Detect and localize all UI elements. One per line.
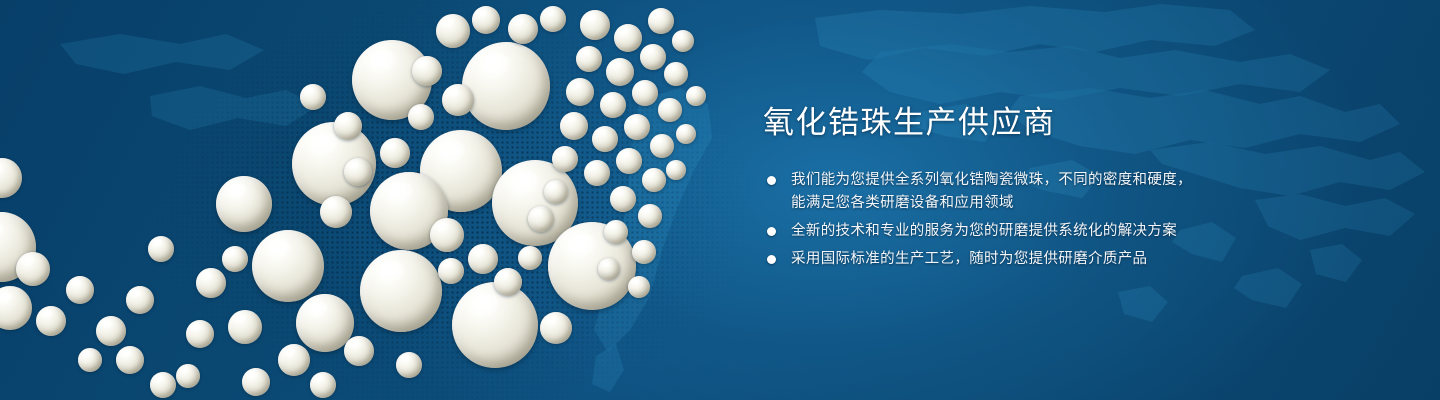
bullet-text-line1: 全新的技术和专业的服务为您的研磨提供系统化的解决方案 bbox=[791, 223, 1177, 239]
list-item: 我们能为您提供全系列氧化锆陶瓷微珠，不同的密度和硬度， 能满足您各类研磨设备和应… bbox=[763, 169, 1233, 215]
banner-bullet-list: 我们能为您提供全系列氧化锆陶瓷微珠，不同的密度和硬度， 能满足您各类研磨设备和应… bbox=[763, 169, 1233, 271]
bullet-text-line2: 能满足您各类研磨设备和应用领域 bbox=[791, 192, 1233, 215]
zirconia-beads-image bbox=[0, 0, 780, 400]
halftone-dot-texture bbox=[110, 0, 770, 400]
list-item: 全新的技术和专业的服务为您的研磨提供系统化的解决方案 bbox=[763, 220, 1233, 243]
bullet-dot-icon bbox=[767, 176, 776, 185]
hero-banner: 氧化锆珠生产供应商 我们能为您提供全系列氧化锆陶瓷微珠，不同的密度和硬度， 能满… bbox=[0, 0, 1440, 400]
banner-copy: 氧化锆珠生产供应商 我们能为您提供全系列氧化锆陶瓷微珠，不同的密度和硬度， 能满… bbox=[763, 104, 1233, 276]
list-item: 采用国际标准的生产工艺，随时为您提供研磨介质产品 bbox=[763, 248, 1233, 271]
banner-headline: 氧化锆珠生产供应商 bbox=[763, 104, 1233, 143]
bullet-text-line1: 我们能为您提供全系列氧化锆陶瓷微珠，不同的密度和硬度， bbox=[791, 172, 1192, 188]
bullet-dot-icon bbox=[767, 227, 776, 236]
bullet-text-line1: 采用国际标准的生产工艺，随时为您提供研磨介质产品 bbox=[791, 251, 1147, 267]
bullet-dot-icon bbox=[767, 255, 776, 264]
